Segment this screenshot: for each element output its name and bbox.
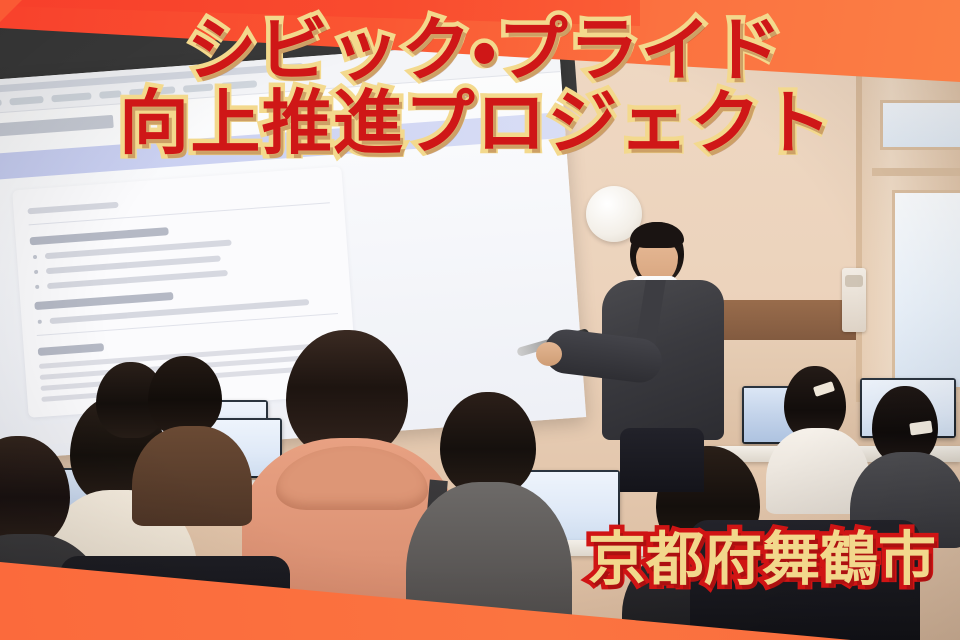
bookmark-item: [9, 96, 43, 105]
head: [440, 392, 536, 496]
door-transom-window: [880, 100, 960, 150]
bookmark-item: [51, 92, 91, 102]
page-heading-placeholder: [0, 115, 114, 138]
presenter-hand: [536, 342, 562, 366]
corner-accent: [0, 0, 22, 22]
bookmark-item: [183, 83, 213, 92]
door-mullion: [872, 168, 960, 176]
bookmark-item: [221, 80, 257, 90]
card-subheading: [30, 227, 169, 245]
card-line: [27, 202, 118, 215]
wall-phone: [842, 268, 866, 332]
card-bullet: [47, 270, 228, 289]
poster-canvas: シビック・プライド 向上推進プロジェクト 京都府舞鶴市: [0, 0, 960, 640]
seminar-room-photo: [0, 0, 960, 640]
bookmark-item: [129, 86, 175, 96]
door-with-frosted-glass: [856, 72, 960, 402]
chair-back: [690, 520, 920, 640]
card-subheading: [34, 292, 173, 310]
presenter: [596, 222, 736, 472]
bookmark-item: [99, 90, 121, 99]
presenter-trousers: [620, 428, 704, 492]
shoulders: [132, 426, 252, 526]
head: [148, 356, 222, 436]
door-glass-pane: [892, 190, 960, 390]
card-subheading: [38, 343, 105, 356]
presenter-hair-front: [630, 222, 684, 248]
bookmark-item: [0, 99, 2, 108]
